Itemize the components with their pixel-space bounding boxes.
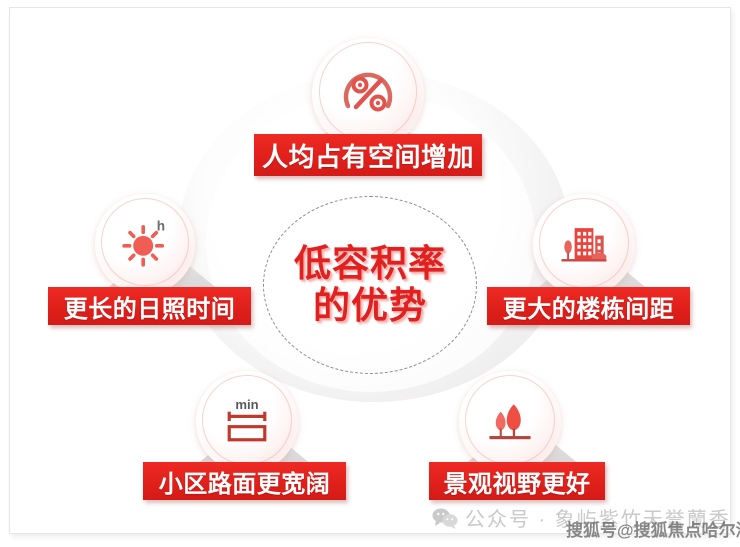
node-top-label: 人均占有空间增加 [254, 134, 482, 176]
node-bottom-left-bubble: min [196, 371, 298, 473]
sohu-watermark: 搜狐号@搜狐焦点哈尔滨站 [566, 516, 740, 541]
trees-landscape-icon [480, 393, 540, 451]
center-title-line2: 的优势 [313, 286, 427, 326]
road-min-label: min [235, 397, 258, 412]
node-right-bubble [533, 194, 635, 296]
center-title-line1: 低容积率 [294, 244, 446, 284]
node-left-label: 更长的日照时间 [48, 287, 251, 325]
wechat-icon [432, 507, 458, 529]
infographic-canvas: 人均占有空间增加 h [0, 0, 740, 547]
road-width-min-icon: min [217, 393, 277, 451]
node-bottom-left-label: 小区路面更宽阔 [143, 462, 346, 500]
node-left-bubble: h [95, 194, 195, 294]
node-bottom-right-label: 景观视野更好 [429, 462, 605, 500]
node-right-label: 更大的楼栋间距 [487, 287, 690, 325]
percent-gauge-icon [336, 62, 400, 126]
center-title: 低容积率 的优势 [263, 196, 477, 374]
buildings-spacing-icon [554, 215, 614, 275]
sun-hours-h-label: h [157, 218, 165, 233]
diagram-stage: 人均占有空间增加 h [0, 0, 740, 547]
sun-hours-icon: h [116, 215, 174, 273]
node-bottom-right-bubble [459, 371, 561, 473]
